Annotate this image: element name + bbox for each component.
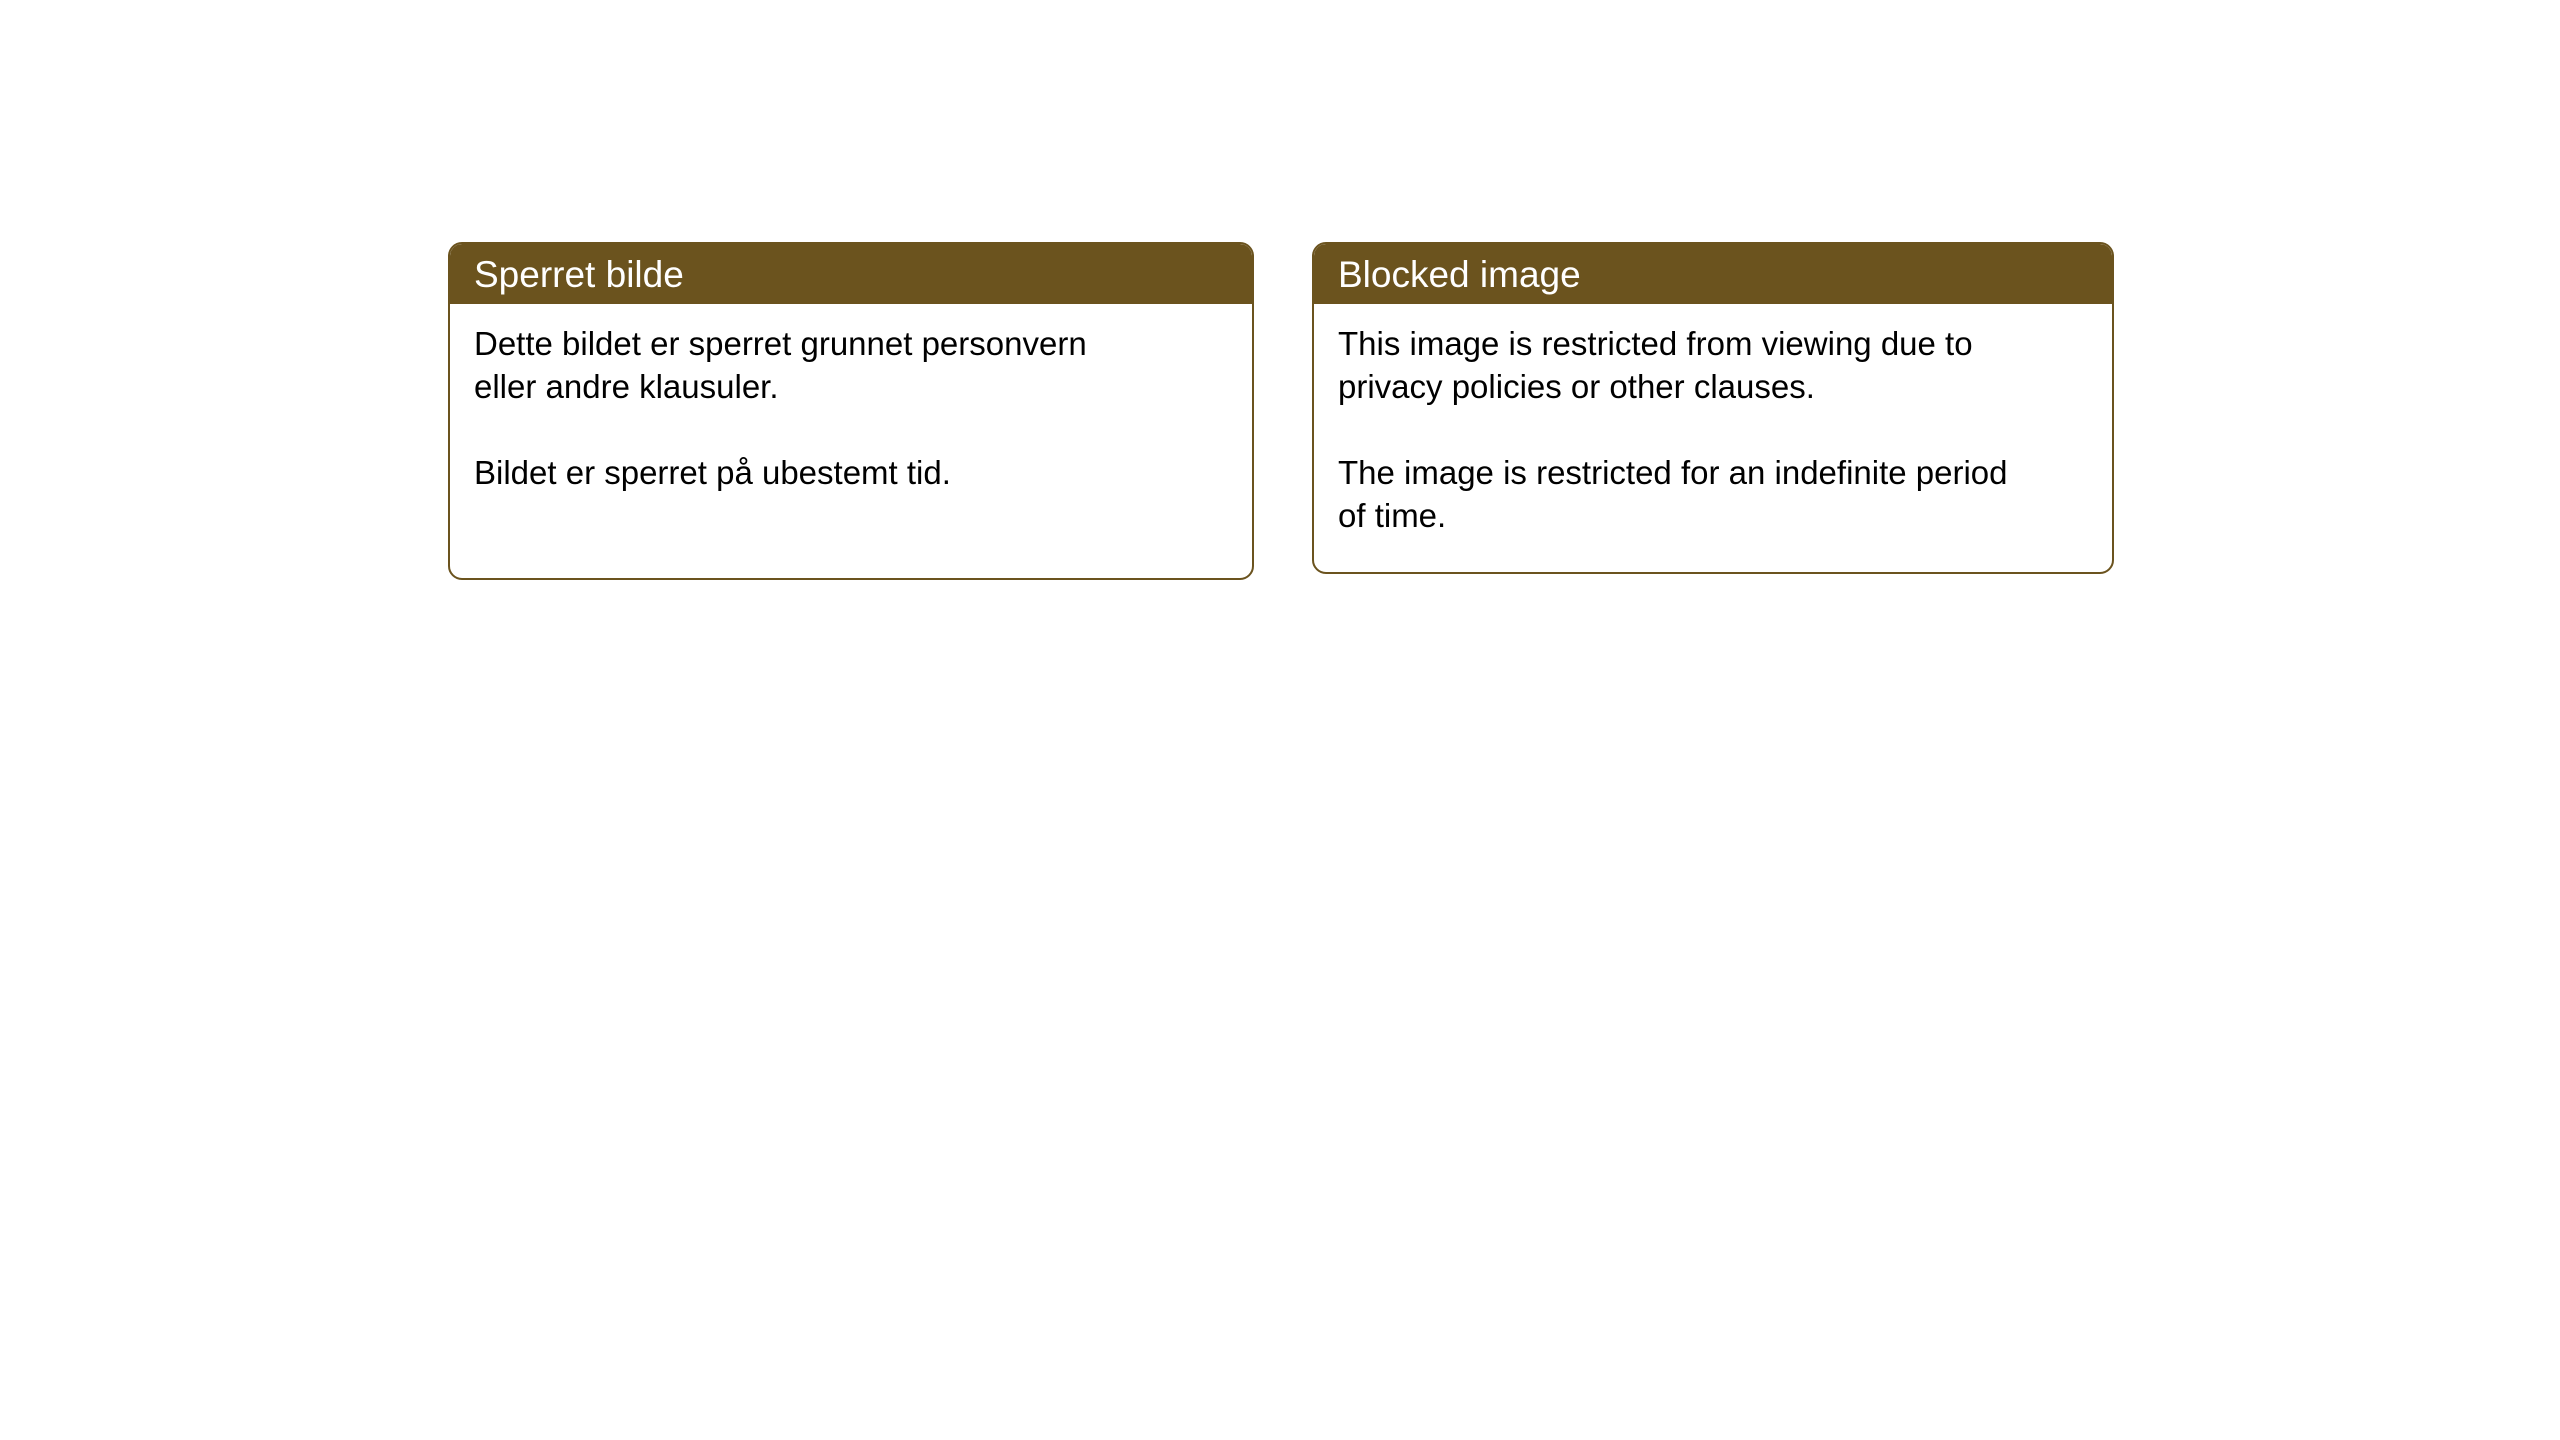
card-paragraph-duration-norwegian: Bildet er sperret på ubestemt tid. — [474, 451, 1226, 494]
card-paragraph-duration-english: The image is restricted for an indefinit… — [1338, 451, 2086, 537]
card-body-english: This image is restricted from viewing du… — [1314, 304, 2112, 537]
card-paragraph-reason-norwegian: Dette bildet er sperret grunnet personve… — [474, 322, 1226, 408]
blocked-image-card-english: Blocked image This image is restricted f… — [1312, 242, 2114, 574]
card-header-english: Blocked image — [1314, 244, 2112, 304]
blocked-image-card-norwegian: Sperret bilde Dette bildet er sperret gr… — [448, 242, 1254, 580]
card-paragraph-reason-english: This image is restricted from viewing du… — [1338, 322, 2086, 408]
card-title-english: Blocked image — [1338, 256, 1581, 293]
blocked-image-notices: Sperret bilde Dette bildet er sperret gr… — [0, 0, 2560, 1440]
card-body-norwegian: Dette bildet er sperret grunnet personve… — [450, 304, 1252, 494]
card-header-norwegian: Sperret bilde — [450, 244, 1252, 304]
card-title-norwegian: Sperret bilde — [474, 256, 684, 293]
